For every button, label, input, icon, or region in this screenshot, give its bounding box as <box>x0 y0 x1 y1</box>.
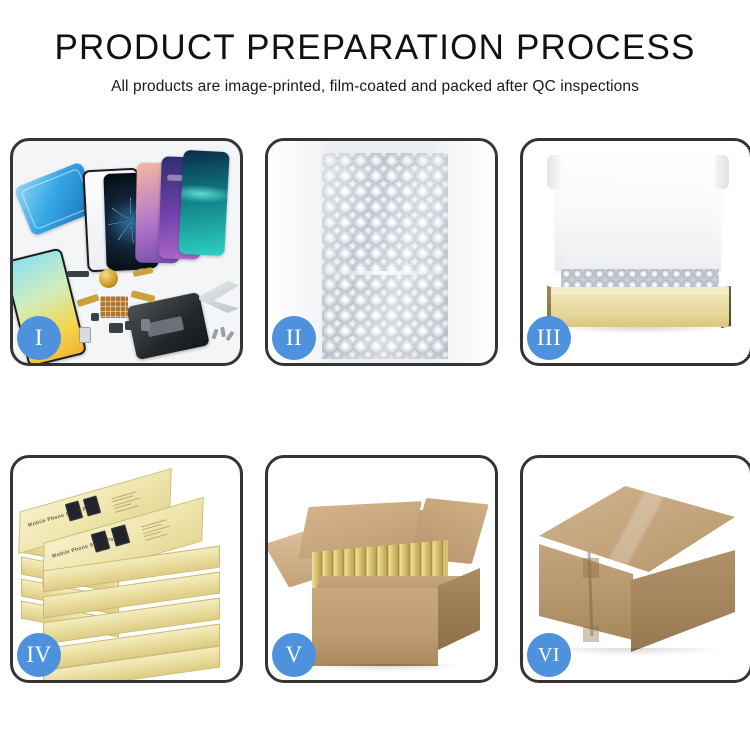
small-part-3 <box>125 321 137 330</box>
steps-grid: I II III <box>10 138 740 683</box>
flex-cable-part-1 <box>76 294 99 307</box>
chip-array-part <box>100 296 128 318</box>
carton-front-wall <box>312 588 438 666</box>
step-badge-6: VI <box>527 633 571 677</box>
step-badge-5: V <box>272 633 316 677</box>
phone-back-housing <box>126 292 210 360</box>
small-part-4 <box>141 319 150 331</box>
step-panel-5: V <box>265 455 498 683</box>
carton-shadow <box>312 664 462 672</box>
phone-teal-gradient <box>178 150 229 256</box>
sealed-carton-tab-lower <box>583 626 599 642</box>
sealed-carton-shadow <box>547 648 721 656</box>
step-panel-3: III <box>520 138 750 366</box>
step-badge-4: IV <box>17 633 61 677</box>
vibration-motor-part <box>99 269 118 288</box>
screws-group <box>213 327 239 345</box>
foam-padding <box>563 197 713 271</box>
step-badge-3: III <box>527 316 571 360</box>
step-panel-6: VI <box>520 455 750 683</box>
page-title: PRODUCT PREPARATION PROCESS <box>0 30 750 67</box>
bubble-wrap-seam <box>322 271 448 275</box>
step-badge-1: I <box>17 316 61 360</box>
page-subtitle: All products are image-printed, film-coa… <box>0 78 750 96</box>
small-part-1 <box>67 271 89 277</box>
sealed-carton-tab-upper <box>583 558 599 578</box>
header: PRODUCT PREPARATION PROCESS All products… <box>0 0 750 96</box>
product-preparation-infographic: PRODUCT PREPARATION PROCESS All products… <box>0 0 750 750</box>
small-part-5 <box>91 313 99 321</box>
flex-cable-part-2 <box>131 290 156 303</box>
tweezers-tool <box>199 281 239 313</box>
sim-tray-part <box>79 327 91 343</box>
step-panel-4: Mobile Phone Spare Parts Mobile Phone Sp… <box>10 455 243 683</box>
step-panel-1: I <box>10 138 243 366</box>
bubble-wrap-highlight <box>322 153 448 359</box>
small-part-2 <box>109 323 123 333</box>
inner-box-shadow <box>557 327 723 334</box>
step-panel-2: II <box>265 138 498 366</box>
step-badge-2: II <box>272 316 316 360</box>
inner-box-front-wall <box>551 293 729 327</box>
